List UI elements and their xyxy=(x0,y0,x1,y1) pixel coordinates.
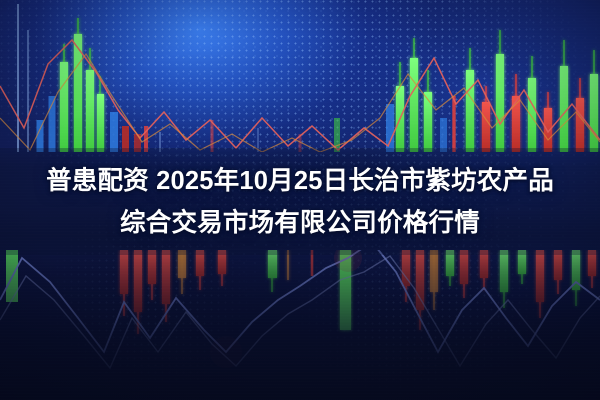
banner-image: 普患配资 2025年10月25日长治市紫坊农产品 综合交易市场有限公司价格行情 xyxy=(0,0,600,400)
scanline-texture xyxy=(0,0,600,400)
